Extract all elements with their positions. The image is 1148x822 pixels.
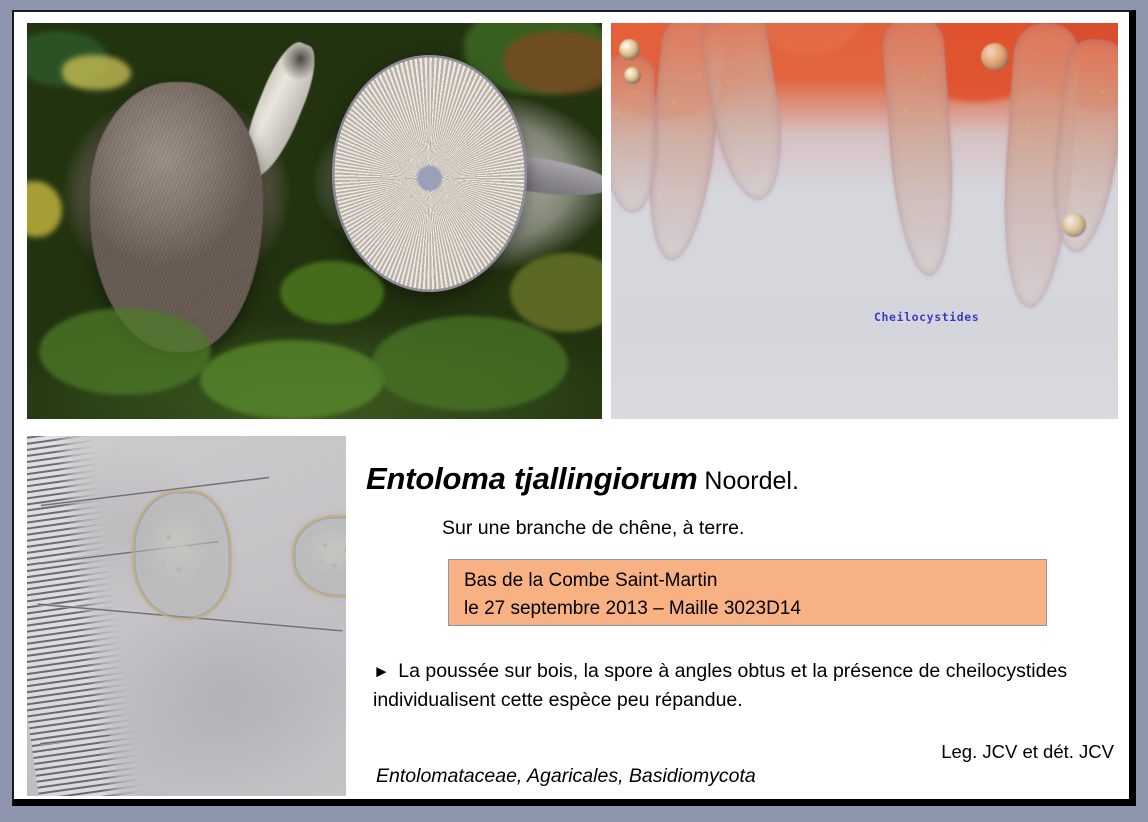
cheilocystidium [698,23,793,205]
remark-paragraph: ► La poussée sur bois, la spore à angles… [373,657,1113,714]
moss-tuft [280,261,384,324]
cheilocystides-label: Cheilocystides [874,310,979,324]
locality-box: Bas de la Combe Saint-Martin le 27 septe… [448,559,1047,626]
moss-tuft [39,308,212,395]
mushroom-gills [332,55,528,293]
collector-attribution: Leg. JCV et dét. JCV [654,741,1114,763]
spore [292,515,346,598]
triangle-bullet-icon: ► [373,662,393,681]
slide-content: Cheilocystides Entoloma tjallingiorum No… [14,12,1129,799]
background-leaf [62,55,131,91]
spore [132,490,232,620]
moss-tuft [510,253,602,332]
species-author: Noordel. [697,467,798,495]
habitat-photo [27,23,602,419]
background-leaf [504,31,602,94]
locality-name: Bas de la Combe Saint-Martin [464,570,717,592]
cheilocystides-micrograph: Cheilocystides [611,23,1118,419]
moss-tuft [372,316,568,411]
locality-date: le 27 septembre 2013 – Maille 3023D14 [464,598,801,620]
spore-micrograph [27,436,346,796]
oil-droplet [981,43,1009,71]
oil-droplet [1062,213,1085,237]
substrate-text: Sur une branche de chêne, à terre. [442,517,744,540]
remark-text: La poussée sur bois, la spore à angles o… [373,660,1067,711]
slide-frame: Cheilocystides Entoloma tjallingiorum No… [12,10,1136,806]
background-leaf [27,181,62,236]
oil-droplet [619,39,640,60]
hymenium-tissue [753,23,865,55]
moss-tuft [200,340,384,419]
species-name: Entoloma tjallingiorum [366,461,697,496]
taxonomy-text: Entolomataceae, Agaricales, Basidiomycot… [376,765,756,788]
page-title: Entoloma tjallingiorum Noordel. [366,461,799,497]
